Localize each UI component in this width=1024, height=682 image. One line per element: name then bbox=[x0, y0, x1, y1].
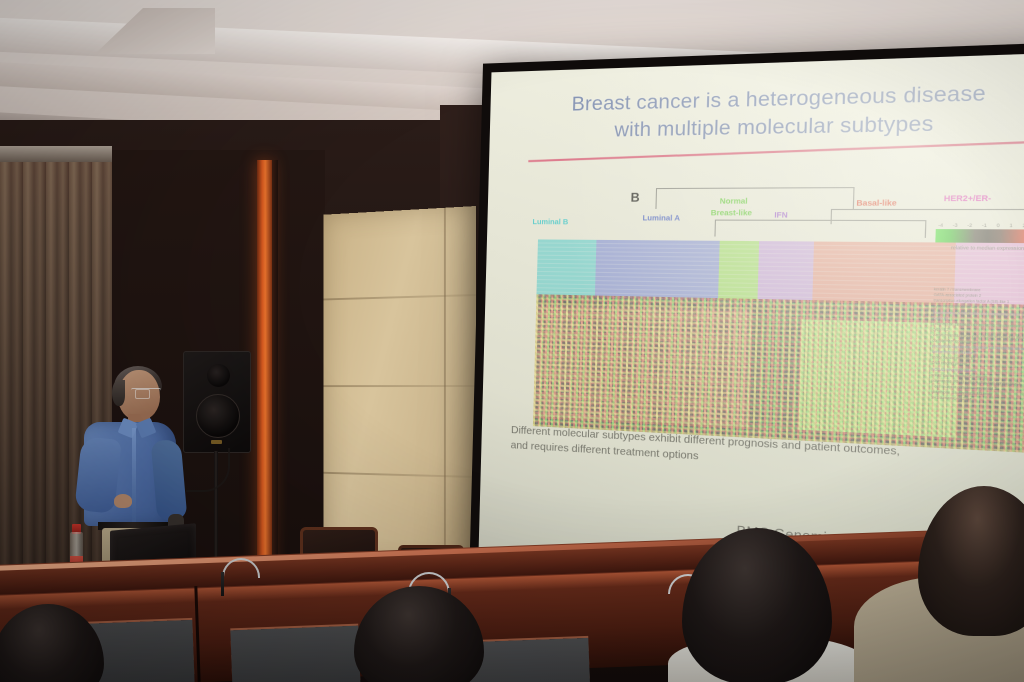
subtype-label-breast-like: Breast-like bbox=[711, 208, 753, 218]
panel-letter-label: B bbox=[630, 190, 639, 205]
subtype-label-normal: Normal bbox=[720, 196, 748, 206]
glasses-icon bbox=[131, 388, 161, 397]
slide-title: Breast cancer is a heterogeneous disease… bbox=[515, 78, 1024, 146]
gene-annotation-list: keratin 7 / transmembrane GATA-associate… bbox=[931, 287, 1024, 406]
subtype-label-ifn: IFN bbox=[774, 210, 788, 220]
scale-tick: -1 bbox=[982, 223, 987, 229]
color-scale-legend: -4 -3 -2 -1 0 1 2 3 relative to median e… bbox=[935, 222, 1024, 251]
dendrogram-bracket-mid bbox=[714, 220, 926, 238]
desk-modesty-panel bbox=[468, 638, 591, 682]
scale-tick: -3 bbox=[953, 222, 958, 228]
band-normal bbox=[718, 241, 759, 301]
band-luminal-a bbox=[595, 240, 719, 300]
lecture-hall-scene: Breast cancer is a heterogeneous disease… bbox=[0, 0, 1024, 682]
color-scale-gradient-bar bbox=[935, 229, 1024, 243]
curtain-rail bbox=[0, 146, 112, 162]
presenter-hair-side bbox=[112, 380, 125, 406]
presenter-hand-left bbox=[114, 494, 132, 508]
subtype-label-her2: HER2+/ER- bbox=[944, 193, 992, 203]
acoustic-wall-panels bbox=[324, 206, 476, 571]
speaker-badge bbox=[211, 440, 222, 444]
band-luminal-b bbox=[536, 239, 596, 297]
pillar-trim bbox=[257, 160, 272, 580]
scale-tick: 0 bbox=[997, 223, 1000, 229]
scale-tick: 1 bbox=[1009, 223, 1012, 229]
shirt-placket bbox=[132, 428, 136, 524]
subtype-label-luminal-a: Luminal A bbox=[642, 213, 680, 223]
speaker-tweeter-icon bbox=[207, 364, 230, 387]
subtype-label-luminal-b: Luminal B bbox=[532, 217, 568, 226]
subtype-label-basal-like: Basal-like bbox=[856, 198, 897, 208]
microphone-post bbox=[221, 572, 224, 596]
presenter-arm-right bbox=[151, 439, 188, 521]
scale-tick: -2 bbox=[967, 223, 972, 229]
dendrogram-bracket-top bbox=[655, 187, 854, 209]
color-scale-caption: relative to median expression bbox=[935, 245, 1024, 252]
pillar-shadow bbox=[272, 160, 278, 580]
band-ifn bbox=[757, 241, 814, 302]
scale-tick: -4 bbox=[938, 222, 943, 228]
desk-modesty-panel bbox=[230, 626, 361, 682]
